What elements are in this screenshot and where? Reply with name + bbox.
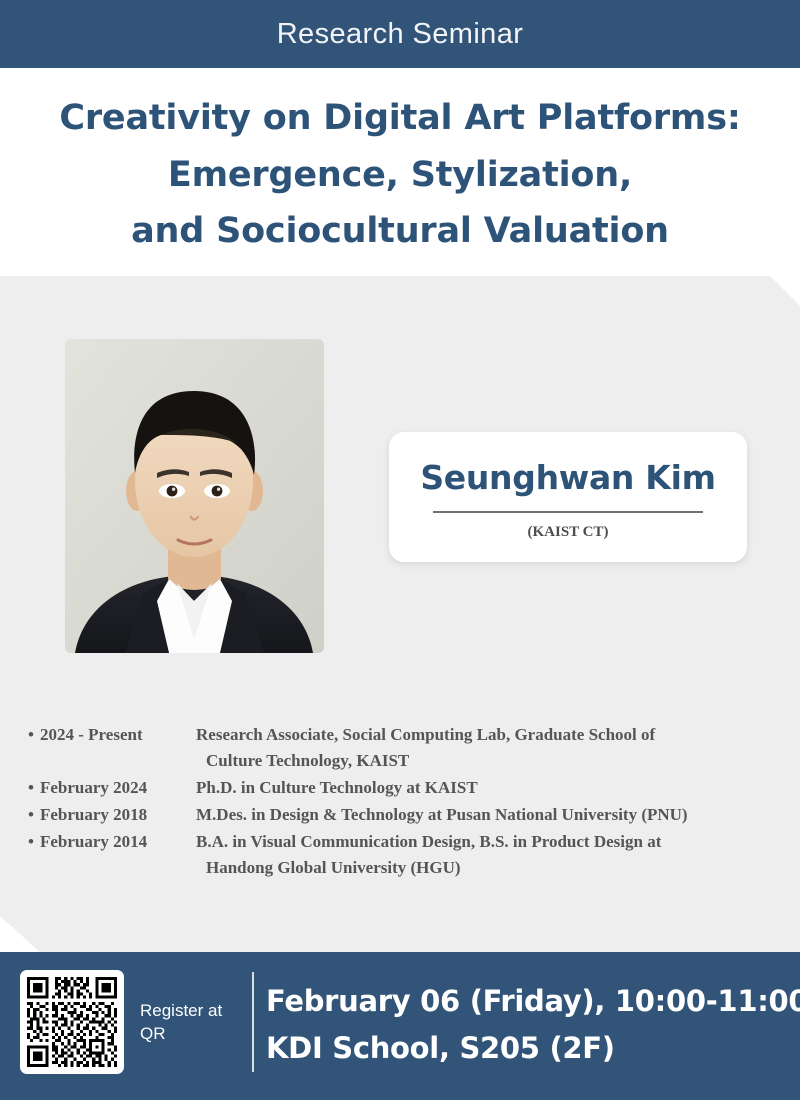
bullet-icon: • (22, 775, 40, 801)
cv-list: • 2024 - Present Research Associate, Soc… (22, 722, 782, 882)
event-location: KDI School, S205 (2F) (266, 1025, 800, 1072)
qr-code-icon (27, 977, 117, 1067)
bullet-icon: • (22, 802, 40, 828)
register-label: Register at QR (140, 1000, 240, 1046)
seminar-poster: Research Seminar Creativity on Digital A… (0, 0, 800, 1100)
speaker-name: Seunghwan Kim (420, 458, 715, 497)
cv-period: February 2024 (40, 775, 192, 801)
cv-description-continuation: Handong Global University (HGU) (196, 855, 782, 881)
cv-description-text: B.A. in Visual Communication Design, B.S… (196, 832, 661, 851)
seminar-title-line-2: Emergence, Stylization, (168, 147, 632, 204)
cv-description: B.A. in Visual Communication Design, B.S… (192, 829, 782, 881)
title-block: Creativity on Digital Art Platforms: Eme… (0, 68, 800, 276)
cv-period: 2024 - Present (40, 722, 192, 748)
bullet-icon: • (22, 829, 40, 855)
cv-description-text: M.Des. in Design & Technology at Pusan N… (196, 805, 688, 824)
cv-item: • February 2014 B.A. in Visual Communica… (22, 829, 782, 881)
cv-item: • 2024 - Present Research Associate, Soc… (22, 722, 782, 774)
event-datetime: February 06 (Friday), 10:00-11:00 (266, 978, 800, 1025)
cv-description: Research Associate, Social Computing Lab… (192, 722, 782, 774)
banner-label: Research Seminar (277, 18, 524, 51)
speaker-affiliation: (KAIST CT) (528, 524, 609, 541)
headshot-illustration (65, 339, 324, 653)
footer-divider (252, 972, 254, 1072)
cv-description-text: Ph.D. in Culture Technology at KAIST (196, 778, 478, 797)
cv-item: • February 2024 Ph.D. in Culture Technol… (22, 775, 782, 801)
cv-description-continuation: Culture Technology, KAIST (196, 748, 782, 774)
cv-period: February 2014 (40, 829, 192, 855)
cv-description-text: Research Associate, Social Computing Lab… (196, 725, 655, 744)
seminar-title-line-3: and Sociocultural Valuation (131, 203, 669, 260)
name-card-divider (433, 511, 703, 513)
cv-item: • February 2018 M.Des. in Design & Techn… (22, 802, 782, 828)
qr-code[interactable] (20, 970, 124, 1074)
speaker-photo (65, 339, 324, 653)
cv-description: Ph.D. in Culture Technology at KAIST (192, 775, 782, 801)
top-banner: Research Seminar (0, 0, 800, 68)
bullet-icon: • (22, 722, 40, 748)
speaker-name-card: Seunghwan Kim (KAIST CT) (389, 432, 747, 562)
cv-period: February 2018 (40, 802, 192, 828)
footer-bar: Register at QR February 06 (Friday), 10:… (0, 952, 800, 1100)
seminar-title-line-1: Creativity on Digital Art Platforms: (59, 90, 740, 147)
event-info: February 06 (Friday), 10:00-11:00 KDI Sc… (266, 978, 800, 1072)
cv-description: M.Des. in Design & Technology at Pusan N… (192, 802, 782, 828)
